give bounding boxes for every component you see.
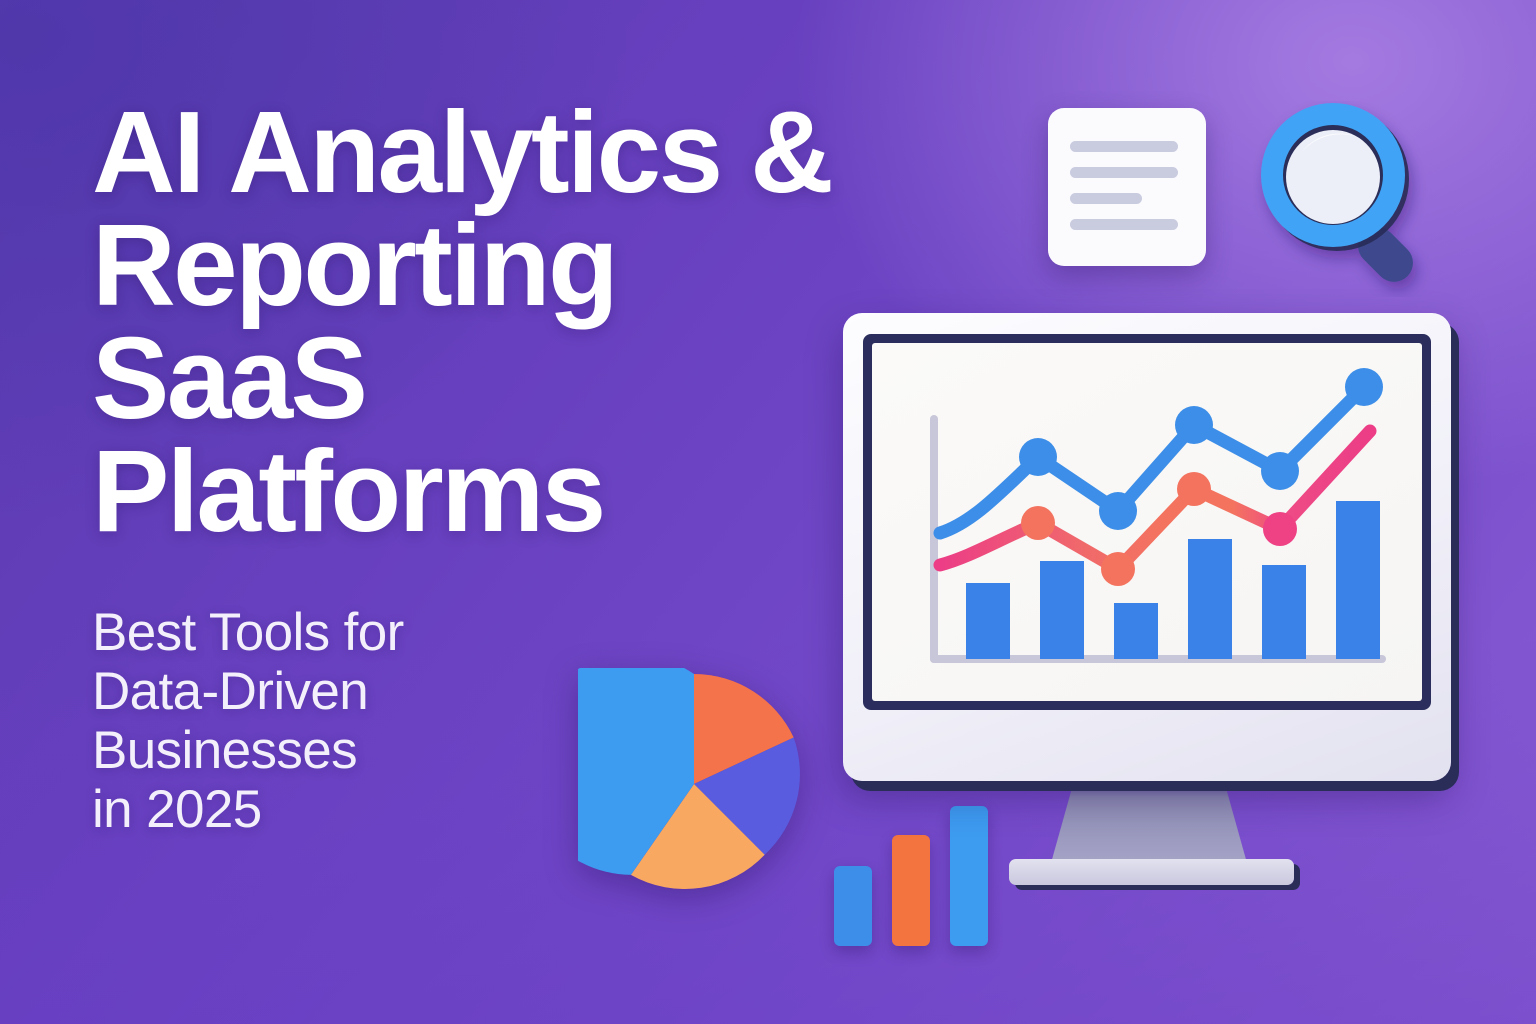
chart-point — [1099, 492, 1137, 530]
document-line-1 — [1070, 141, 1178, 152]
chart-bar — [1262, 565, 1306, 659]
magnifier-group — [1261, 103, 1421, 290]
chart-point — [1019, 438, 1057, 476]
document-line-2 — [1070, 167, 1178, 178]
chart-point — [1261, 452, 1299, 490]
page-subtitle: Best Tools for Data-Driven Businesses in… — [92, 604, 992, 839]
mini-bar — [892, 835, 930, 946]
magnifier-lens — [1286, 130, 1380, 224]
chart-line-blue — [940, 368, 1383, 533]
chart-bar — [1114, 603, 1158, 659]
chart-point — [1345, 368, 1383, 406]
chart-point — [1263, 512, 1297, 546]
chart-point — [1021, 506, 1055, 540]
document-line-3 — [1070, 193, 1142, 204]
chart-bar — [1336, 501, 1380, 659]
page-title: AI Analytics & Reporting SaaS Platforms — [92, 96, 992, 548]
headline-block: AI Analytics & Reporting SaaS Platforms … — [92, 96, 992, 840]
chart-point — [1177, 472, 1211, 506]
document-line-4 — [1070, 219, 1178, 230]
mini-bar — [834, 866, 872, 946]
chart-bar — [1188, 539, 1232, 659]
magnifier-icon — [1253, 101, 1449, 297]
chart-point — [1175, 406, 1213, 444]
chart-point — [1101, 552, 1135, 586]
monitor-base — [1009, 859, 1294, 885]
monitor-neck — [1051, 779, 1247, 863]
document-icon — [1048, 108, 1206, 266]
chart-bar — [1040, 561, 1084, 659]
